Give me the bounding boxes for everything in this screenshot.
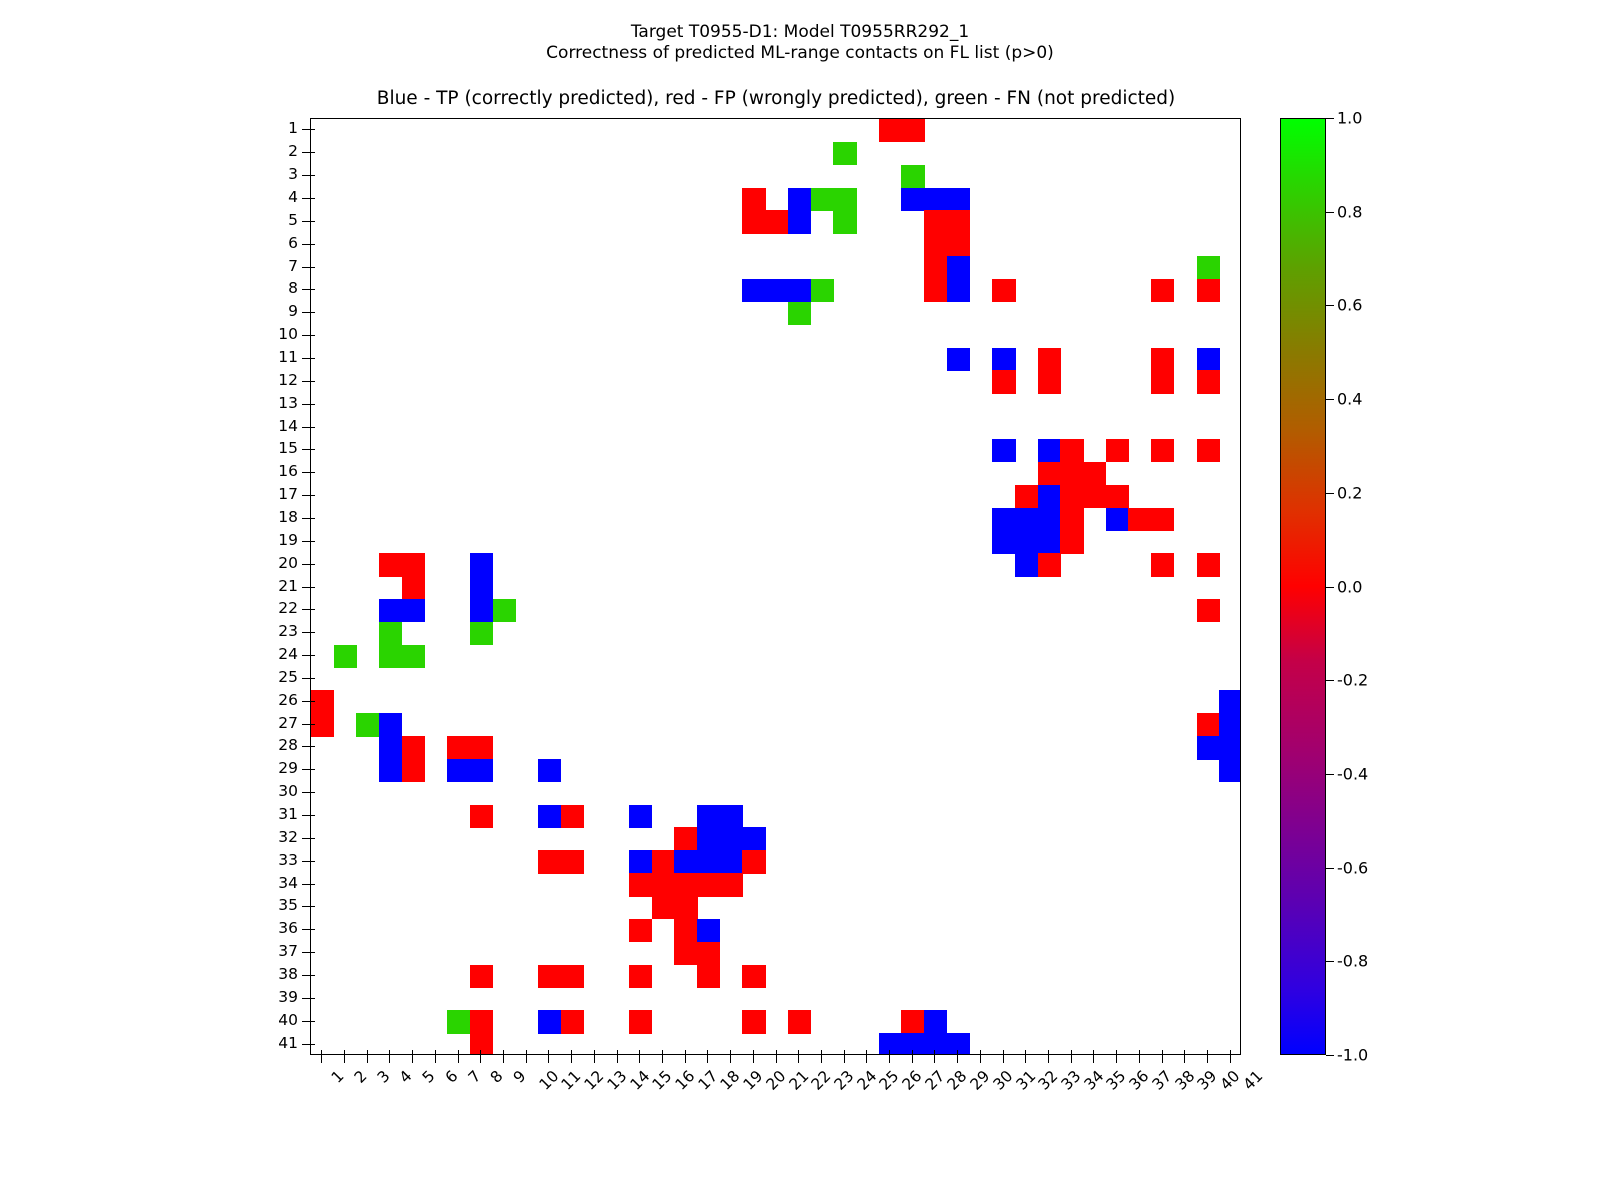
x-tick-mark — [503, 1055, 504, 1063]
heatmap-cell — [629, 873, 652, 896]
y-tick-label: 41 — [248, 1034, 298, 1052]
heatmap-cell — [697, 805, 720, 828]
heatmap-cell — [947, 1033, 970, 1055]
y-tick-mark — [302, 609, 310, 610]
heatmap-cell — [470, 759, 493, 782]
heatmap-cell — [538, 965, 561, 988]
heatmap-cell — [1060, 530, 1083, 553]
y-tick-label: 18 — [248, 508, 298, 526]
x-tick-label: 1 — [328, 1067, 348, 1087]
y-tick-mark-inner — [310, 724, 315, 725]
colorbar-tick-label: -0.2 — [1337, 671, 1368, 690]
y-tick-mark-inner — [310, 861, 315, 862]
y-tick-mark-inner — [310, 655, 315, 656]
heatmap-cell — [833, 142, 856, 165]
x-tick-mark-inner — [889, 1050, 890, 1055]
x-tick-mark-inner — [866, 1050, 867, 1055]
colorbar-tick-mark — [1326, 587, 1334, 588]
x-tick-mark-inner — [821, 1050, 822, 1055]
heatmap-cell — [1060, 439, 1083, 462]
colorbar-tick-mark — [1326, 868, 1334, 869]
y-tick-mark-inner — [310, 152, 315, 153]
y-tick-label: 13 — [248, 394, 298, 412]
y-tick-mark — [302, 175, 310, 176]
figure-suptitle-line2: Correctness of predicted ML-range contac… — [0, 41, 1600, 65]
x-tick-label: 9 — [510, 1067, 530, 1087]
heatmap-cell — [1219, 759, 1241, 782]
y-tick-mark-inner — [310, 312, 315, 313]
heatmap-cell — [788, 210, 811, 233]
x-tick-mark — [889, 1055, 890, 1063]
y-tick-mark-inner — [310, 769, 315, 770]
heatmap-cell — [697, 850, 720, 873]
y-tick-mark-inner — [310, 632, 315, 633]
heatmap-cell — [470, 622, 493, 645]
heatmap-cell — [1038, 462, 1061, 485]
heatmap-cell — [1151, 370, 1174, 393]
x-tick-mark-inner — [389, 1050, 390, 1055]
y-tick-label: 31 — [248, 805, 298, 823]
y-tick-mark-inner — [310, 404, 315, 405]
y-tick-mark-inner — [310, 1021, 315, 1022]
heatmap-cell — [674, 827, 697, 850]
heatmap-cell — [1219, 713, 1241, 736]
heatmap-cell — [1151, 348, 1174, 371]
y-tick-mark-inner — [310, 427, 315, 428]
x-tick-mark — [594, 1055, 595, 1063]
heatmap-cell — [470, 553, 493, 576]
y-tick-mark-inner — [310, 884, 315, 885]
heatmap-cell — [447, 1010, 470, 1033]
heatmap-cell — [1083, 485, 1106, 508]
heatmap-cell — [992, 279, 1015, 302]
y-tick-label: 26 — [248, 691, 298, 709]
heatmap-cell — [379, 713, 402, 736]
heatmap-cell — [947, 233, 970, 256]
heatmap-cell — [879, 119, 902, 142]
colorbar-tick-mark — [1326, 961, 1334, 962]
heatmap-cell — [992, 370, 1015, 393]
x-tick-mark-inner — [1139, 1050, 1140, 1055]
y-tick-label: 24 — [248, 645, 298, 663]
x-tick-mark-inner — [1003, 1050, 1004, 1055]
y-tick-mark — [302, 815, 310, 816]
y-tick-mark — [302, 335, 310, 336]
heatmap-cell — [470, 1010, 493, 1033]
y-tick-mark-inner — [310, 198, 315, 199]
heatmap-cell — [674, 873, 697, 896]
heatmap-cell — [901, 188, 924, 211]
y-tick-label: 25 — [248, 668, 298, 686]
x-tick-mark-inner — [1230, 1050, 1231, 1055]
heatmap-cell — [1106, 485, 1129, 508]
colorbar-tick-label: -0.8 — [1337, 952, 1368, 971]
heatmap-cell — [1197, 370, 1220, 393]
x-tick-mark — [753, 1055, 754, 1063]
colorbar-tick-label: -1.0 — [1337, 1046, 1368, 1065]
y-tick-mark-inner — [310, 358, 315, 359]
heatmap-cell — [1038, 370, 1061, 393]
y-tick-label: 29 — [248, 759, 298, 777]
y-tick-label: 8 — [248, 279, 298, 297]
x-tick-label: 41 — [1239, 1067, 1266, 1094]
colorbar — [1280, 118, 1326, 1055]
y-tick-label: 10 — [248, 325, 298, 343]
heatmap-cell — [742, 965, 765, 988]
x-tick-mark — [344, 1055, 345, 1063]
heatmap-cell — [1060, 508, 1083, 531]
y-tick-mark — [302, 975, 310, 976]
y-tick-mark — [302, 267, 310, 268]
x-tick-mark-inner — [662, 1050, 663, 1055]
y-tick-label: 5 — [248, 211, 298, 229]
x-tick-mark — [934, 1055, 935, 1063]
heatmap-cell — [742, 188, 765, 211]
heatmap-cell — [379, 553, 402, 576]
y-tick-mark-inner — [310, 815, 315, 816]
heatmap-cell — [1015, 485, 1038, 508]
heatmap-cell — [379, 622, 402, 645]
x-tick-mark — [980, 1055, 981, 1063]
heatmap-cell — [402, 599, 425, 622]
y-tick-label: 22 — [248, 599, 298, 617]
y-tick-mark — [302, 724, 310, 725]
heatmap-cell — [379, 759, 402, 782]
heatmap-cell — [742, 827, 765, 850]
y-tick-mark — [302, 632, 310, 633]
y-tick-mark — [302, 427, 310, 428]
heatmap-cell — [1106, 508, 1129, 531]
heatmap-cell — [697, 827, 720, 850]
y-tick-mark-inner — [310, 906, 315, 907]
x-tick-mark — [1139, 1055, 1140, 1063]
colorbar-tick-label: 1.0 — [1337, 109, 1362, 128]
heatmap-cell — [924, 188, 947, 211]
y-tick-mark-inner — [310, 335, 315, 336]
x-tick-label: 2 — [351, 1067, 371, 1087]
x-tick-mark-inner — [503, 1050, 504, 1055]
heatmap-cell — [674, 850, 697, 873]
heatmap-cell — [1197, 439, 1220, 462]
x-tick-mark-inner — [934, 1050, 935, 1055]
y-tick-label: 11 — [248, 348, 298, 366]
x-tick-mark — [1116, 1055, 1117, 1063]
y-tick-mark — [302, 381, 310, 382]
x-tick-mark-inner — [548, 1050, 549, 1055]
heatmap-cell — [538, 850, 561, 873]
heatmap-cell — [1197, 553, 1220, 576]
x-tick-mark-inner — [617, 1050, 618, 1055]
heatmap-cell — [788, 188, 811, 211]
y-tick-label: 32 — [248, 828, 298, 846]
y-tick-mark-inner — [310, 1044, 315, 1045]
y-tick-label: 12 — [248, 371, 298, 389]
y-tick-mark-inner — [310, 518, 315, 519]
x-tick-mark — [367, 1055, 368, 1063]
heatmap-cell — [697, 942, 720, 965]
colorbar-tick-label: 0.8 — [1337, 202, 1362, 221]
x-tick-mark-inner — [844, 1050, 845, 1055]
y-tick-label: 4 — [248, 188, 298, 206]
y-tick-mark — [302, 472, 310, 473]
y-tick-mark — [302, 861, 310, 862]
y-tick-mark-inner — [310, 678, 315, 679]
heatmap-cell — [538, 1010, 561, 1033]
x-tick-mark-inner — [1025, 1050, 1026, 1055]
heatmap-cell — [924, 279, 947, 302]
y-tick-mark-inner — [310, 541, 315, 542]
x-tick-mark — [1071, 1055, 1072, 1063]
heatmap-cell — [788, 302, 811, 325]
heatmap-cell — [470, 576, 493, 599]
heatmap-cell — [924, 233, 947, 256]
y-tick-label: 14 — [248, 417, 298, 435]
heatmap-cell — [379, 599, 402, 622]
x-tick-mark-inner — [685, 1050, 686, 1055]
x-tick-mark-inner — [1093, 1050, 1094, 1055]
colorbar-tick-label: 0.0 — [1337, 577, 1362, 596]
heatmap-cell — [1197, 736, 1220, 759]
heatmap-cell — [720, 827, 743, 850]
heatmap-cell — [879, 1033, 902, 1055]
x-tick-mark-inner — [1071, 1050, 1072, 1055]
y-tick-mark — [302, 678, 310, 679]
colorbar-tick-mark — [1326, 118, 1334, 119]
x-tick-mark — [639, 1055, 640, 1063]
y-tick-label: 15 — [248, 439, 298, 457]
x-tick-label: 3 — [374, 1067, 394, 1087]
y-tick-mark — [302, 129, 310, 130]
y-tick-mark — [302, 541, 310, 542]
colorbar-tick-label: 0.4 — [1337, 390, 1362, 409]
y-tick-mark-inner — [310, 495, 315, 496]
heatmap-cell — [924, 1010, 947, 1033]
heatmap-cell — [1083, 462, 1106, 485]
heatmap-cell — [629, 805, 652, 828]
x-tick-mark — [685, 1055, 686, 1063]
y-tick-mark — [302, 998, 310, 999]
x-tick-label: 6 — [442, 1067, 462, 1087]
colorbar-tick-label: 0.2 — [1337, 483, 1362, 502]
heatmap-cell — [1015, 553, 1038, 576]
y-tick-mark — [302, 655, 310, 656]
y-tick-label: 37 — [248, 942, 298, 960]
y-tick-label: 21 — [248, 577, 298, 595]
heatmap-cell — [447, 759, 470, 782]
x-tick-mark — [617, 1055, 618, 1063]
y-tick-mark — [302, 518, 310, 519]
heatmap-cell — [1038, 508, 1061, 531]
x-tick-mark-inner — [776, 1050, 777, 1055]
x-tick-mark — [821, 1055, 822, 1063]
x-tick-mark-inner — [912, 1050, 913, 1055]
x-tick-mark-inner — [367, 1050, 368, 1055]
y-tick-label: 39 — [248, 988, 298, 1006]
y-tick-mark-inner — [310, 587, 315, 588]
y-tick-mark-inner — [310, 975, 315, 976]
y-tick-label: 30 — [248, 782, 298, 800]
heatmap-cell — [924, 210, 947, 233]
y-tick-label: 23 — [248, 622, 298, 640]
x-tick-mark — [957, 1055, 958, 1063]
y-tick-mark-inner — [310, 746, 315, 747]
y-tick-mark-inner — [310, 564, 315, 565]
heatmap-cell — [629, 919, 652, 942]
x-tick-mark — [730, 1055, 731, 1063]
heatmap-cell — [947, 210, 970, 233]
heatmap-cell — [379, 645, 402, 668]
y-tick-mark — [302, 495, 310, 496]
colorbar-tick-label: 0.6 — [1337, 296, 1362, 315]
heatmap-cell — [697, 919, 720, 942]
y-tick-mark — [302, 312, 310, 313]
heatmap-cell — [901, 165, 924, 188]
heatmap-cell — [1038, 485, 1061, 508]
heatmap-cell — [470, 1033, 493, 1055]
y-tick-mark-inner — [310, 701, 315, 702]
heatmap-cell — [765, 210, 788, 233]
x-tick-mark — [1207, 1055, 1208, 1063]
heatmap-cell — [470, 599, 493, 622]
heatmap-cell — [788, 1010, 811, 1033]
y-tick-label: 1 — [248, 119, 298, 137]
x-tick-mark-inner — [1116, 1050, 1117, 1055]
heatmap-cell — [629, 1010, 652, 1033]
x-tick-mark — [1093, 1055, 1094, 1063]
y-tick-mark — [302, 906, 310, 907]
colorbar-tick-mark — [1326, 493, 1334, 494]
y-tick-mark-inner — [310, 952, 315, 953]
x-tick-mark-inner — [1184, 1050, 1185, 1055]
x-tick-mark — [866, 1055, 867, 1063]
heatmap-cell — [992, 530, 1015, 553]
heatmap-cell — [720, 805, 743, 828]
heatmap-cell — [697, 965, 720, 988]
heatmap-cell — [811, 279, 834, 302]
heatmap-cell — [1038, 439, 1061, 462]
heatmap-cell — [674, 919, 697, 942]
heatmap-cell — [742, 850, 765, 873]
x-tick-mark-inner — [571, 1050, 572, 1055]
x-tick-mark — [844, 1055, 845, 1063]
heatmap-cell — [334, 645, 357, 668]
heatmap-cell — [742, 279, 765, 302]
y-tick-label: 7 — [248, 257, 298, 275]
x-tick-mark — [662, 1055, 663, 1063]
heatmap-cell — [561, 965, 584, 988]
heatmap-cell — [811, 188, 834, 211]
colorbar-tick-mark — [1326, 305, 1334, 306]
heatmap-cell — [765, 279, 788, 302]
x-tick-mark — [1025, 1055, 1026, 1063]
y-tick-mark — [302, 152, 310, 153]
heatmap-cell — [992, 348, 1015, 371]
y-tick-mark — [302, 838, 310, 839]
contact-map-plot[interactable] — [310, 118, 1241, 1055]
x-tick-mark-inner — [1162, 1050, 1163, 1055]
y-tick-mark-inner — [310, 129, 315, 130]
axes-title: Blue - TP (correctly predicted), red - F… — [0, 88, 1552, 109]
heatmap-cell — [947, 348, 970, 371]
y-tick-mark — [302, 358, 310, 359]
x-tick-label: 4 — [396, 1067, 416, 1087]
colorbar-tick-mark — [1326, 680, 1334, 681]
x-tick-mark — [1162, 1055, 1163, 1063]
x-tick-mark — [1230, 1055, 1231, 1063]
heatmap-cell — [1128, 508, 1151, 531]
y-tick-mark-inner — [310, 381, 315, 382]
x-tick-mark — [1184, 1055, 1185, 1063]
heatmap-cell — [1197, 348, 1220, 371]
x-tick-mark-inner — [458, 1050, 459, 1055]
heatmap-cell — [1106, 439, 1129, 462]
y-tick-label: 3 — [248, 165, 298, 183]
colorbar-tick-mark — [1326, 212, 1334, 213]
x-tick-mark-inner — [707, 1050, 708, 1055]
heatmap-cell — [1038, 553, 1061, 576]
heatmap-cell — [652, 896, 675, 919]
y-tick-mark-inner — [310, 929, 315, 930]
heatmap-cell — [447, 736, 470, 759]
x-tick-mark-inner — [730, 1050, 731, 1055]
heatmap-cell — [1151, 508, 1174, 531]
x-tick-mark-inner — [957, 1050, 958, 1055]
heatmap-cell — [788, 279, 811, 302]
y-tick-mark — [302, 746, 310, 747]
heatmap-cell-layer — [311, 119, 1240, 1054]
heatmap-cell — [379, 736, 402, 759]
colorbar-tick-mark — [1326, 774, 1334, 775]
heatmap-cell — [629, 965, 652, 988]
y-tick-mark-inner — [310, 838, 315, 839]
heatmap-cell — [1060, 485, 1083, 508]
y-tick-mark — [302, 952, 310, 953]
heatmap-cell — [470, 965, 493, 988]
y-tick-label: 38 — [248, 965, 298, 983]
heatmap-cell — [1197, 279, 1220, 302]
heatmap-cell — [561, 805, 584, 828]
x-tick-mark-inner — [435, 1050, 436, 1055]
heatmap-cell — [924, 1033, 947, 1055]
heatmap-cell — [901, 1010, 924, 1033]
heatmap-cell — [720, 850, 743, 873]
heatmap-cell — [402, 553, 425, 576]
x-tick-mark-inner — [1207, 1050, 1208, 1055]
heatmap-cell — [1015, 530, 1038, 553]
x-tick-label: 8 — [487, 1067, 507, 1087]
y-tick-mark — [302, 929, 310, 930]
heatmap-cell — [1038, 530, 1061, 553]
x-tick-mark — [480, 1055, 481, 1063]
x-tick-mark — [1003, 1055, 1004, 1063]
y-tick-mark-inner — [310, 998, 315, 999]
colorbar-tick-mark — [1326, 1055, 1334, 1056]
x-tick-mark-inner — [594, 1050, 595, 1055]
x-tick-mark-inner — [412, 1050, 413, 1055]
heatmap-cell — [901, 1033, 924, 1055]
heatmap-cell — [493, 599, 516, 622]
heatmap-cell — [356, 713, 379, 736]
y-tick-mark-inner — [310, 175, 315, 176]
heatmap-cell — [470, 736, 493, 759]
x-tick-mark-inner — [753, 1050, 754, 1055]
heatmap-cell — [742, 1010, 765, 1033]
y-tick-label: 28 — [248, 736, 298, 754]
x-tick-mark — [776, 1055, 777, 1063]
y-tick-label: 34 — [248, 874, 298, 892]
heatmap-cell — [402, 576, 425, 599]
x-tick-mark-inner — [798, 1050, 799, 1055]
